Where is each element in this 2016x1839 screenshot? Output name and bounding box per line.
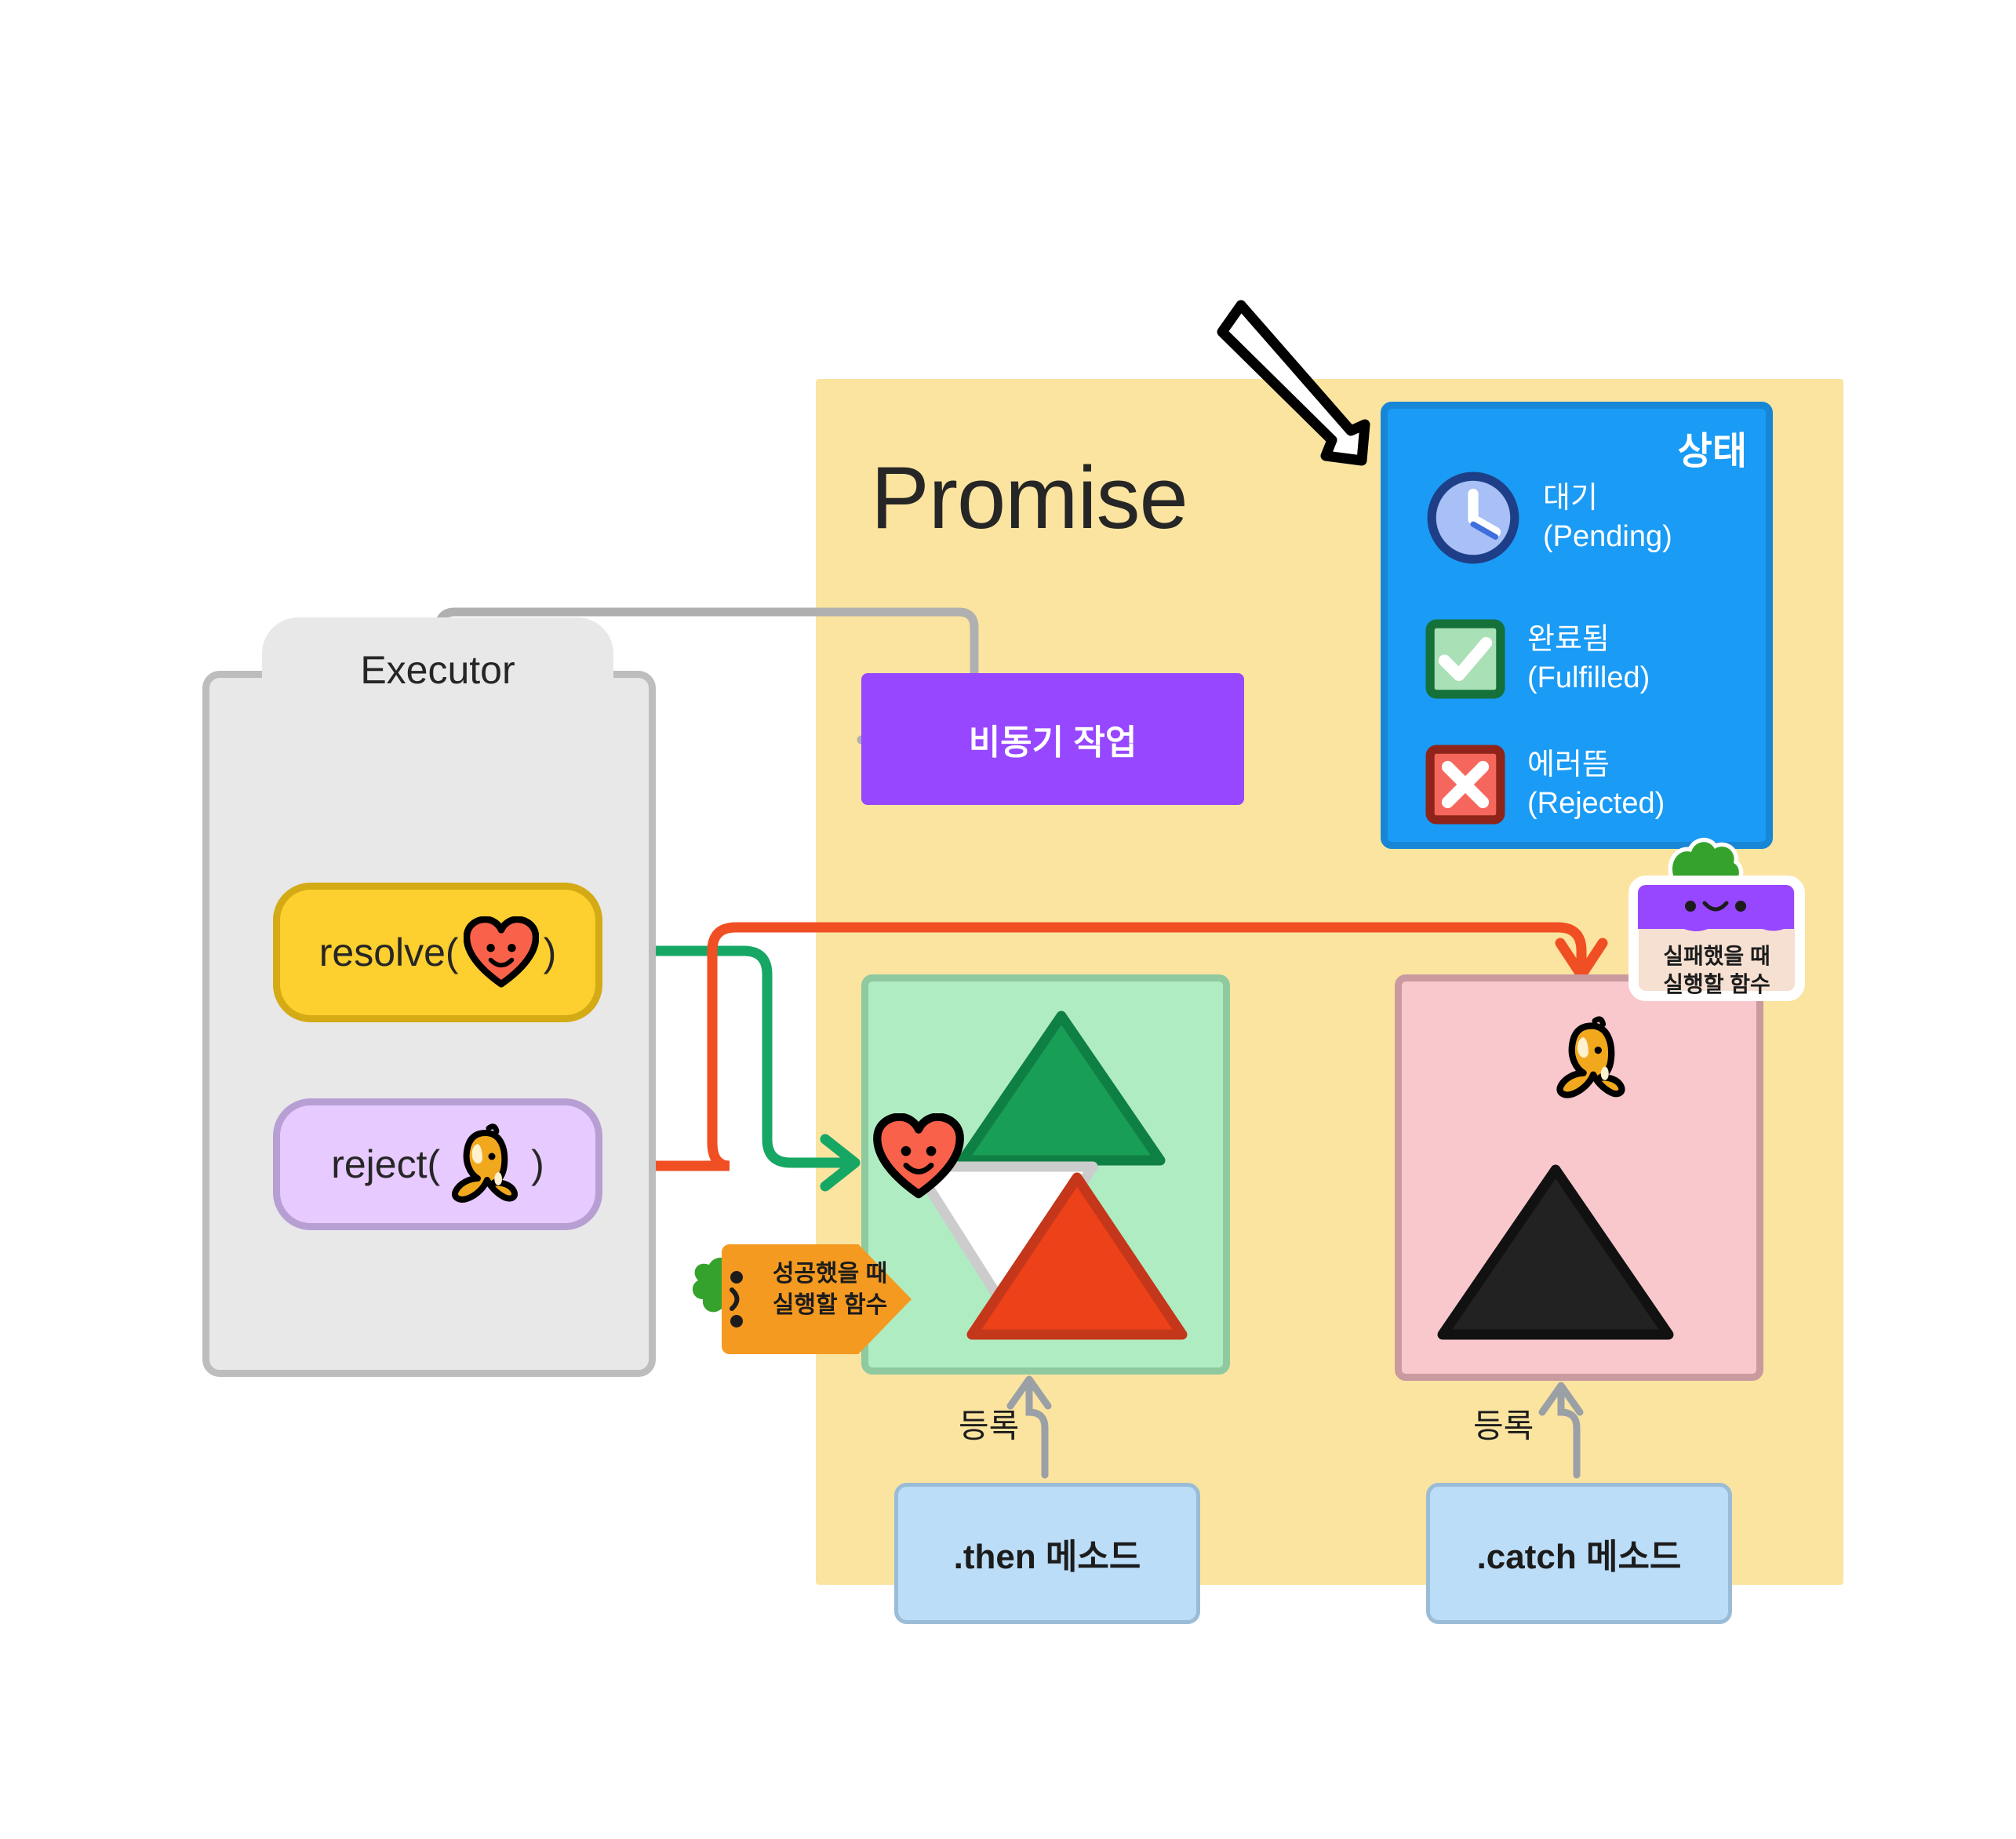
- catch-tooltip-line2: 실행할 함수: [1639, 970, 1795, 999]
- catch-register-label: 등록: [1473, 1400, 1534, 1448]
- state-row-fulfilled: 완료됨 (Fulfilled): [1425, 619, 1650, 699]
- state-rejected-text: 에러뜸 (Rejected): [1527, 746, 1665, 822]
- executor-tab: Executor: [262, 617, 613, 751]
- async-task-box[interactable]: 비동기 작업: [861, 673, 1244, 805]
- promise-diagram: Promise 비동기 작업 Executor resolve(: [0, 0, 2016, 1839]
- catch-tooltip-text: 실패했을 때 실행할 함수: [1639, 942, 1795, 1000]
- green-triangle: [963, 1016, 1160, 1160]
- black-triangle: [1443, 1170, 1668, 1335]
- cross-icon: [1425, 745, 1505, 825]
- clock-icon: [1425, 470, 1521, 566]
- resolve-label: resolve(: [319, 930, 459, 975]
- state-rejected-en: (Rejected): [1527, 785, 1665, 823]
- catch-tooltip-wave: [1638, 917, 1794, 938]
- turnip-face-icon: [1679, 894, 1755, 917]
- state-pending-text: 대기 (Pending): [1543, 479, 1672, 555]
- heart-face-icon: [873, 1113, 964, 1200]
- resolve-button[interactable]: resolve( ): [273, 883, 602, 1022]
- states-title: 상태: [1678, 420, 1747, 475]
- state-row-rejected: 에러뜸 (Rejected): [1425, 745, 1665, 825]
- then-handler-panel: [861, 974, 1230, 1375]
- heart-face-icon: [464, 916, 539, 989]
- carrot-face-icon: [723, 1244, 750, 1354]
- check-icon: [1425, 619, 1505, 699]
- then-tooltip-line2: 실행할 함수: [759, 1290, 901, 1321]
- executor-body: [202, 671, 656, 1377]
- then-tooltip-line1: 성공했을 때: [759, 1258, 901, 1290]
- catch-handler-panel: [1395, 974, 1763, 1381]
- then-tooltip: 성공했을 때 실행할 함수: [684, 1244, 912, 1354]
- async-task-label: 비동기 작업: [969, 714, 1137, 764]
- reject-button[interactable]: reject( ): [273, 1098, 602, 1230]
- catch-method-label: .catch 메소드: [1477, 1528, 1682, 1579]
- hand-drawn-arrow-icon: [1208, 271, 1420, 483]
- state-pending-ko: 대기: [1543, 479, 1672, 518]
- then-register-label: 등록: [959, 1400, 1019, 1448]
- state-pending-en: (Pending): [1543, 518, 1672, 556]
- reject-close-paren: ): [531, 1142, 544, 1187]
- then-tooltip-text: 성공했을 때 실행할 함수: [759, 1258, 901, 1320]
- state-row-pending: 대기 (Pending): [1425, 470, 1672, 566]
- resolve-close-paren: ): [544, 930, 557, 975]
- executor-label: Executor: [360, 647, 515, 693]
- banana-peel-icon: [445, 1122, 526, 1207]
- state-fulfilled-en: (Fulfilled): [1527, 659, 1650, 697]
- state-fulfilled-text: 완료됨 (Fulfilled): [1527, 621, 1650, 697]
- promise-states-card: 상태 대기 (Pending) 완료됨 (Fulfilled): [1381, 402, 1773, 849]
- catch-tooltip-line1: 실패했을 때: [1639, 942, 1795, 970]
- banana-peel-icon: [1549, 1014, 1634, 1102]
- catch-method-box[interactable]: .catch 메소드: [1426, 1483, 1732, 1624]
- state-fulfilled-ko: 완료됨: [1527, 621, 1650, 659]
- then-method-box[interactable]: .then 메소드: [894, 1483, 1200, 1624]
- then-method-label: .then 메소드: [954, 1528, 1141, 1579]
- state-rejected-ko: 에러뜸: [1527, 746, 1665, 785]
- reject-label: reject(: [331, 1142, 440, 1187]
- catch-tooltip: 실패했을 때 실행할 함수: [1628, 876, 1805, 1001]
